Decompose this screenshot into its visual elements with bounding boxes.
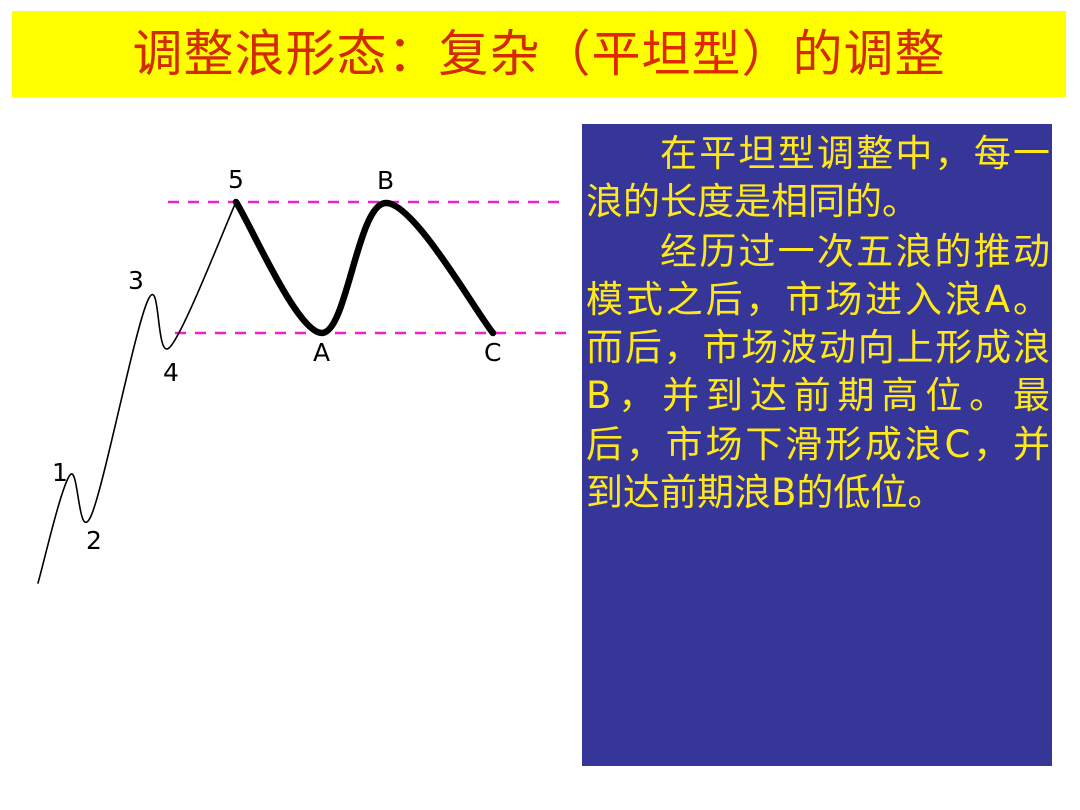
description-panel: 在平坦型调整中，每一浪的长度是相同的。 经历过一次五浪的推动模式之后，市场进入浪… — [582, 124, 1052, 766]
wave-diagram-svg — [0, 110, 580, 810]
wave-label-1: 1 — [52, 460, 68, 485]
title-emphasis: 平坦型 — [591, 26, 741, 83]
description-paragraph-2: 经历过一次五浪的推动模式之后，市场进入浪A。而后，市场波动向上形成浪B，并到达前… — [586, 228, 1050, 517]
elliott-wave-chart: 12345ABC — [0, 110, 580, 810]
description-paragraph-1: 在平坦型调整中，每一浪的长度是相同的。 — [586, 130, 1050, 226]
page-title: 调整浪形态：复杂（平坦型）的调整 — [132, 29, 945, 79]
title-prefix: 调整浪形态：复杂（ — [132, 25, 591, 83]
wave-label-3: 3 — [128, 268, 144, 293]
wave-label-A: A — [313, 340, 330, 365]
wave-label-2: 2 — [86, 528, 102, 553]
wave-label-B: B — [377, 168, 394, 193]
wave-label-5: 5 — [228, 167, 244, 192]
wave-label-C: C — [484, 340, 501, 365]
wave-curves-group — [38, 202, 493, 583]
wave-path-impulse-wave-1-5 — [38, 202, 236, 583]
slide-title-banner: 调整浪形态：复杂（平坦型）的调整 — [12, 11, 1066, 97]
title-suffix: ）的调整 — [742, 25, 946, 83]
wave-path-corrective-wave-abc — [236, 202, 493, 333]
wave-label-4: 4 — [163, 360, 179, 385]
